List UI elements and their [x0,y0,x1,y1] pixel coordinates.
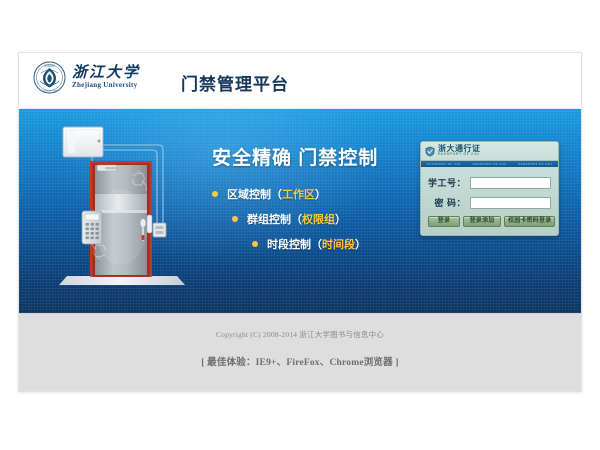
feature-main-label: 时段控制 [267,236,311,252]
login-button-row: 登录 登录添加 校园卡密码登录 [428,216,551,227]
feature-sub-label: 权限组 [302,211,335,227]
feature-paren-open: （ [271,186,282,202]
watermark-text: PASSPORT OF ZJU [518,162,552,166]
brand-name-cn: 浙江大学 [72,65,140,81]
watermark-text: PASSPORT OF ZJU [473,162,507,166]
access-control-door-illustration [49,119,209,304]
slogan-block: 安全精确 门禁控制 区域控制 （ 工作区 ） 群组控制 （ 权限组 ） [212,143,417,261]
site-header: 求是创新 ZHEJIANG 1897 浙江大学 Zhejiang Univers… [19,53,581,109]
page-container: 求是创新 ZHEJIANG 1897 浙江大学 Zhejiang Univers… [18,52,582,392]
zju-seal-icon: 求是创新 ZHEJIANG 1897 [33,61,66,94]
svg-text:求是创新: 求是创新 [44,63,55,67]
browser-support-note: [ 最佳体验：IE9+、FireFox、Chrome浏览器 ] [19,340,581,368]
banner-slogan: 安全精确 门禁控制 [212,143,417,170]
feature-paren-open: （ [291,211,302,227]
login-form: 学工号： 密 码： 登录 登录添加 校园卡密码登录 [421,167,558,235]
brand-logo[interactable]: 求是创新 ZHEJIANG 1897 浙江大学 Zhejiang Univers… [33,61,140,94]
userid-input[interactable] [470,177,551,189]
feature-sub-label: 工作区 [282,186,315,202]
feature-sub-label: 时间段 [322,236,355,252]
feature-item-group: 群组控制 （ 权限组 ） [212,211,417,227]
feature-paren-close: ） [315,186,326,202]
site-footer: Copyright (C) 2008-2014 浙江大学图书与信息中心 [ 最佳… [19,313,581,392]
form-row-password: 密 码： [428,196,551,209]
password-input[interactable] [470,197,551,209]
feature-item-timeslot: 时段控制 （ 时间段 ） [212,236,417,252]
campus-card-login-button[interactable]: 校园卡密码登录 [504,216,555,227]
userid-label: 学工号： [428,176,466,189]
watermark-text: PASSPORT OF ZJU [427,162,461,166]
shield-icon [425,146,435,157]
bullet-dot-icon [232,216,238,222]
form-row-userid: 学工号： [428,176,551,189]
feature-main-label: 区域控制 [227,186,271,202]
brand-text: 浙江大学 Zhejiang University [72,65,140,90]
login-panel-title-en: PASSPORT OF ZJU [438,153,481,157]
feature-paren-close: ） [335,211,346,227]
login-add-button[interactable]: 登录添加 [463,216,501,227]
bullet-dot-icon [252,241,258,247]
login-panel-title-block: 浙大通行证 PASSPORT OF ZJU [438,145,481,157]
feature-paren-close: ） [355,236,366,252]
feature-list: 区域控制 （ 工作区 ） 群组控制 （ 权限组 ） 时段控制 （ 时间段 [212,186,417,252]
bullet-dot-icon [212,191,218,197]
copyright-text: Copyright (C) 2008-2014 浙江大学图书与信息中心 [19,314,581,340]
feature-main-label: 群组控制 [247,211,291,227]
password-label: 密 码： [428,196,466,209]
feature-item-area: 区域控制 （ 工作区 ） [212,186,417,202]
hero-banner: 安全精确 门禁控制 区域控制 （ 工作区 ） 群组控制 （ 权限组 ） [19,109,581,313]
brand-name-en: Zhejiang University [72,81,140,90]
feature-paren-open: （ [311,236,322,252]
page-title: 门禁管理平台 [181,70,289,95]
login-panel: 浙大通行证 PASSPORT OF ZJU PASSPORT OF ZJU PA… [420,141,559,236]
login-panel-header: 浙大通行证 PASSPORT OF ZJU [421,142,558,161]
login-button[interactable]: 登录 [428,216,460,227]
